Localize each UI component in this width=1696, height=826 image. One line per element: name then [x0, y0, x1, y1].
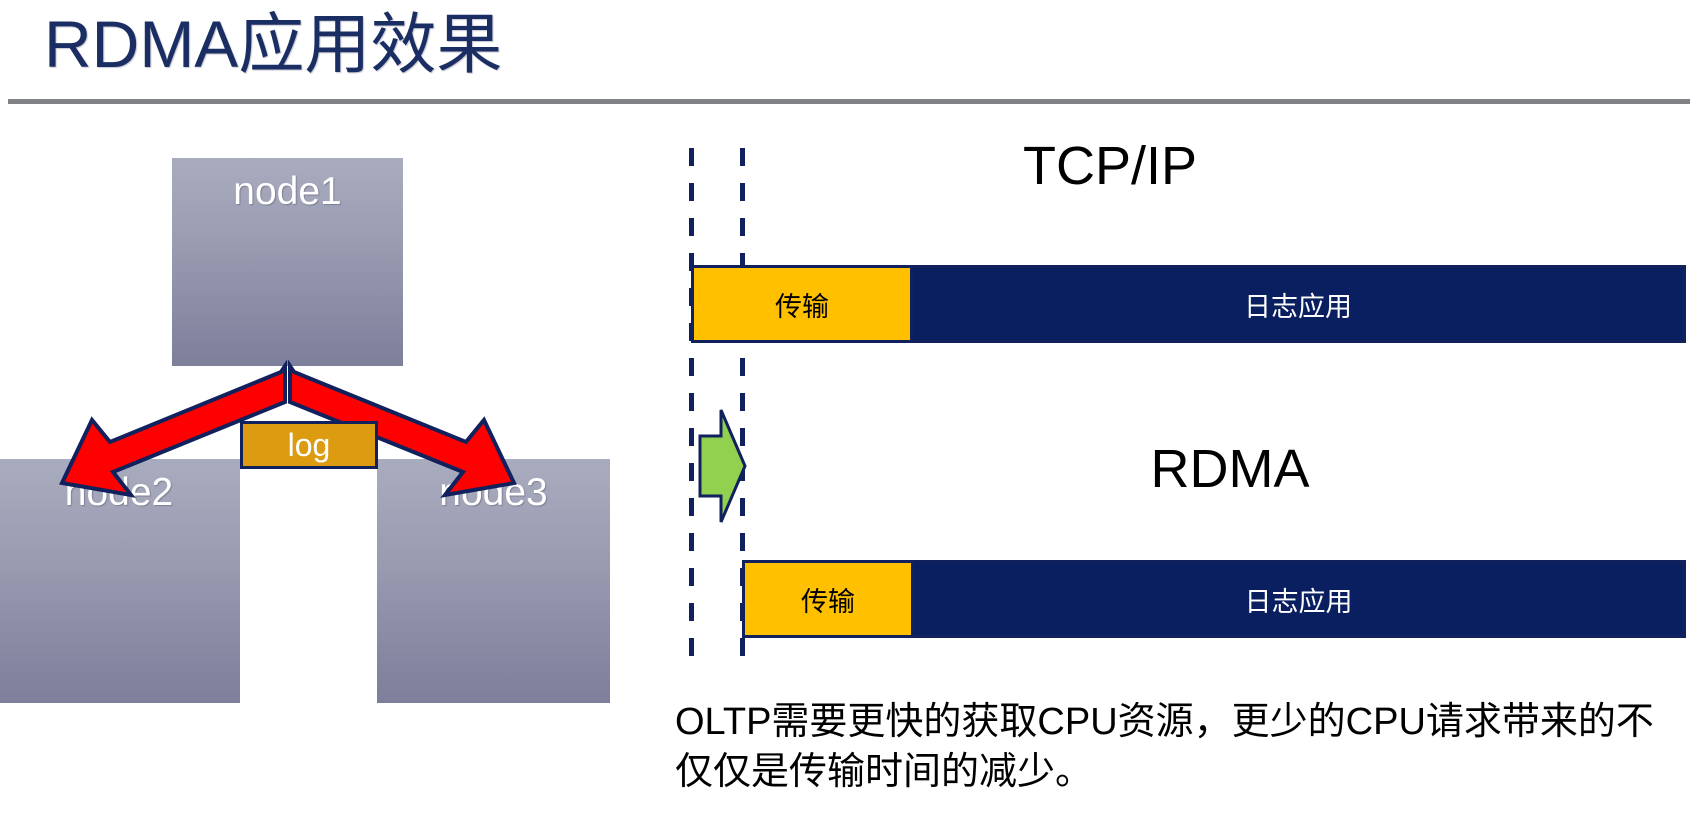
- protocol-label-rdma: RDMA: [1020, 438, 1440, 500]
- improvement-arrow-icon: [700, 410, 745, 522]
- timeline-row-rdma: 传输 日志应用: [742, 560, 1686, 638]
- segment-log-apply: 日志应用: [913, 265, 1686, 343]
- log-box: log: [240, 421, 378, 469]
- protocol-label-tcpip: TCP/IP: [900, 135, 1320, 197]
- timeline-row-tcpip: 传输 日志应用: [691, 265, 1686, 343]
- node-box-node1: node1: [172, 158, 403, 366]
- replication-arrows: [0, 340, 620, 500]
- segment-transfer: 传输: [742, 560, 914, 638]
- improvement-arrow: [694, 406, 750, 526]
- segment-log-apply: 日志应用: [914, 560, 1686, 638]
- slide-canvas: RDMA应用效果 node1 node2 node3 log TCP/IP 传输…: [0, 0, 1696, 826]
- node-label: node1: [172, 170, 403, 214]
- page-title: RDMA应用效果: [44, 4, 502, 84]
- title-divider: [8, 99, 1690, 104]
- log-box-label: log: [288, 427, 331, 463]
- caption-text: OLTP需要更快的获取CPU资源，更少的CPU请求带来的不仅仅是传输时间的减少。: [675, 697, 1660, 797]
- segment-transfer: 传输: [691, 265, 913, 343]
